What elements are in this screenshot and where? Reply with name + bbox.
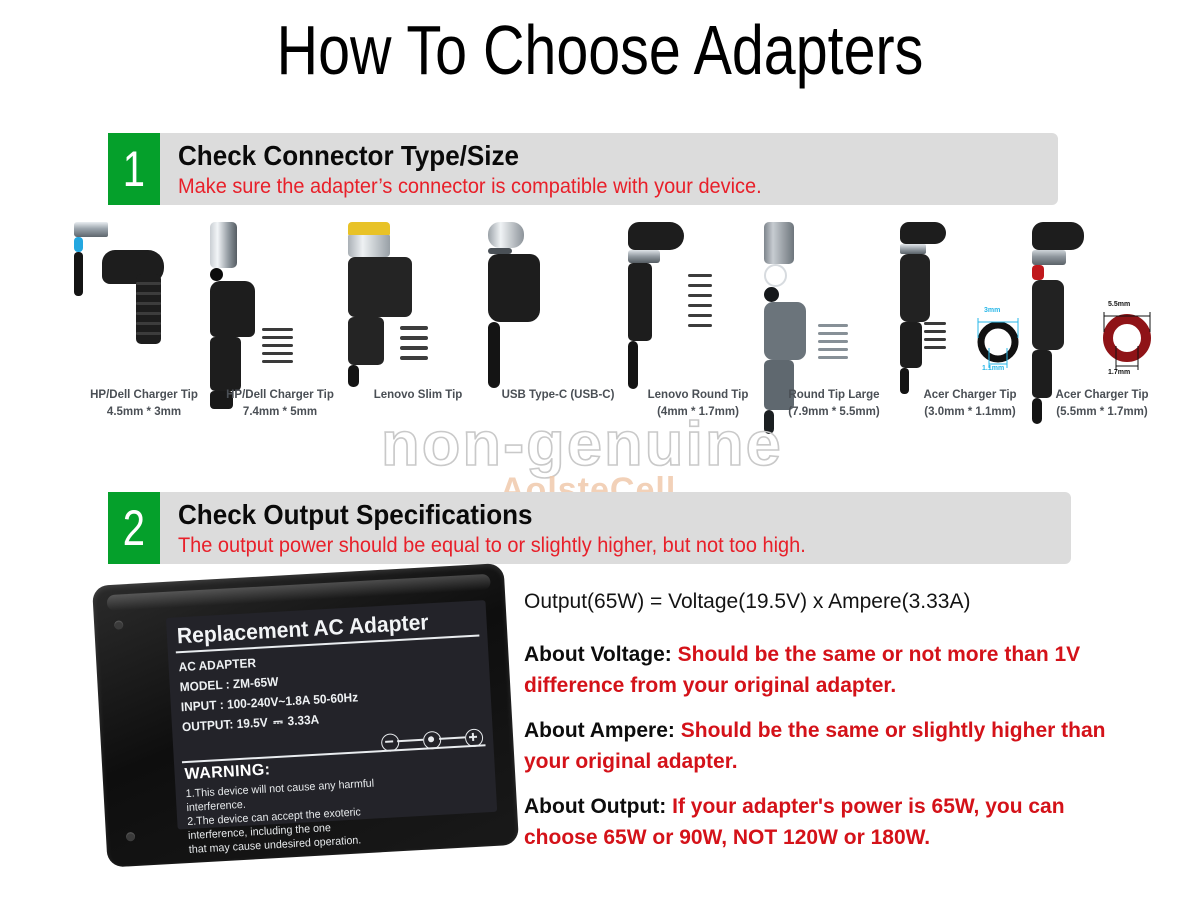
adapter-screw-bottom	[126, 832, 135, 841]
connector-caption-8: Acer Charger Tip (5.5mm * 1.7mm)	[1018, 387, 1186, 421]
note-ampere-lead: About Ampere:	[524, 719, 675, 742]
output-equation: Output(65W) = Voltage(19.5V) x Ampere(3.…	[524, 586, 1124, 617]
acer-30-inner-label: 1.1mm	[982, 364, 1004, 373]
section-2-subheading: The output power should be equal to or s…	[178, 533, 1026, 559]
acer-55-tip-icon: 5.5mm 1.7mm	[1032, 222, 1172, 382]
connector-name-5: Lenovo Round Tip	[648, 389, 749, 401]
hp-dell-74-barrel-tip-icon	[210, 222, 350, 382]
connector-name-6: Round Tip Large	[788, 389, 879, 401]
output-notes: Output(65W) = Voltage(19.5V) x Ampere(3.…	[524, 586, 1124, 867]
acer-30-tip-icon: 3mm 1.1mm	[900, 222, 1040, 382]
adapter-screw-top	[114, 620, 123, 629]
connector-name-3: Lenovo Slim Tip	[374, 389, 463, 401]
round-tip-large-icon	[764, 222, 904, 382]
adapter-warning-title: WARNING:	[184, 760, 271, 785]
connector-item-3: Lenovo Slim Tip	[348, 222, 488, 442]
adapter-label-panel: Replacement AC Adapter AC ADAPTER MODEL …	[166, 600, 497, 830]
connector-item-5: Lenovo Round Tip (4mm * 1.7mm)	[628, 222, 768, 442]
acer-55-dimension-callout: 5.5mm 1.7mm	[1086, 298, 1168, 382]
connector-size-6: (7.9mm * 5.5mm)	[788, 406, 879, 418]
connector-item-4: USB Type-C (USB-C)	[488, 222, 628, 442]
connector-item-2: HP/Dell Charger Tip 7.4mm * 5mm	[210, 222, 350, 442]
section-2-bar: Check Output Specifications The output p…	[160, 492, 1071, 564]
lenovo-round-tip-icon	[628, 222, 768, 382]
note-voltage: About Voltage: Should be the same or not…	[524, 639, 1124, 701]
connector-name-2: HP/Dell Charger Tip	[226, 389, 334, 401]
acer-30-dimension-callout: 3mm 1.1mm	[962, 308, 1034, 376]
connector-name-7: Acer Charger Tip	[923, 389, 1016, 401]
acer-55-outer-label: 5.5mm	[1108, 300, 1130, 309]
section-1-header: 1 Check Connector Type/Size Make sure th…	[108, 133, 1058, 205]
note-output: About Output: If your adapter's power is…	[524, 791, 1124, 853]
adapter-output-ampere: 3.33A	[287, 713, 319, 729]
section-1-subheading: Make sure the adapter’s connector is com…	[178, 174, 1014, 200]
note-voltage-lead: About Voltage:	[524, 643, 672, 666]
ac-adapter-photo: Replacement AC Adapter AC ADAPTER MODEL …	[92, 578, 504, 878]
section-1-bar: Check Connector Type/Size Make sure the …	[160, 133, 1058, 205]
section-2-header: 2 Check Output Specifications The output…	[108, 492, 1071, 564]
acer-30-outer-label: 3mm	[984, 306, 1000, 315]
infographic-page: How To Choose Adapters 1 Check Connector…	[0, 0, 1200, 900]
connector-size-5: (4mm * 1.7mm)	[657, 406, 739, 418]
connector-size-1: 4.5mm * 3mm	[107, 406, 181, 418]
usb-type-c-icon	[488, 222, 628, 382]
adapter-body: Replacement AC Adapter AC ADAPTER MODEL …	[92, 563, 519, 868]
adapter-label-type: AC ADAPTER	[178, 655, 256, 675]
adapter-output-voltage: OUTPUT: 19.5V	[182, 715, 268, 734]
note-ampere: About Ampere: Should be the same or slig…	[524, 715, 1124, 777]
connector-item-6: Round Tip Large (7.9mm * 5.5mm)	[764, 222, 904, 442]
connector-item-8: 5.5mm 1.7mm Acer Charger Tip (5.5mm * 1.…	[1032, 222, 1172, 442]
section-2-number: 2	[123, 503, 145, 553]
adapter-label-output: OUTPUT: 19.5V ⎓ 3.33A	[182, 712, 320, 736]
adapter-label-model: MODEL : ZM-65W	[179, 674, 278, 695]
connector-size-8: (5.5mm * 1.7mm)	[1056, 406, 1147, 418]
page-title: How To Choose Adapters	[108, 14, 1092, 86]
section-1-number-badge: 1	[108, 133, 160, 205]
connector-name-8: Acer Charger Tip	[1055, 389, 1148, 401]
connector-name-4: USB Type-C (USB-C)	[502, 389, 615, 401]
section-2-heading: Check Output Specifications	[178, 499, 1008, 531]
connector-gallery: HP/Dell Charger Tip 4.5mm * 3mm HP/Dell …	[60, 222, 1170, 442]
connector-item-1: HP/Dell Charger Tip 4.5mm * 3mm	[74, 222, 214, 442]
hp-dell-45-angled-tip-icon	[74, 222, 214, 382]
acer-55-inner-label: 1.7mm	[1108, 368, 1130, 377]
note-output-lead: About Output:	[524, 795, 666, 818]
connector-size-7: (3.0mm * 1.1mm)	[924, 406, 1015, 418]
connector-size-2: 7.4mm * 5mm	[243, 406, 317, 418]
section-1-number: 1	[123, 144, 145, 194]
connector-name-1: HP/Dell Charger Tip	[90, 389, 198, 401]
section-1-heading: Check Connector Type/Size	[178, 140, 996, 172]
lenovo-slim-tip-icon	[348, 222, 488, 382]
section-2-number-badge: 2	[108, 492, 160, 564]
